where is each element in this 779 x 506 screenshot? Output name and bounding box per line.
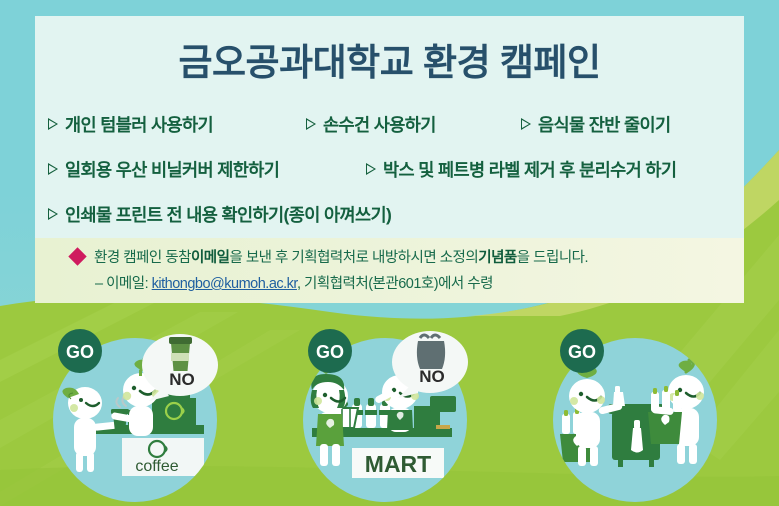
note-line-1: 환경 캠페인 동참 이메일을 보낸 후 기획협력처로 내방하시면 소정의 기념품…: [71, 246, 588, 267]
triangle-bullet-icon: [48, 164, 58, 176]
bullet-row-1: 개인 텀블러 사용하기 손수건 사용하기 음식물 잔반 줄이기: [48, 102, 748, 147]
note-text-e: 을 드립니다.: [517, 246, 588, 267]
no-label-1: NO: [169, 370, 195, 389]
bullet-label: 개인 텀블러 사용하기: [65, 112, 213, 137]
triangle-bullet-icon: [48, 209, 58, 221]
bullet-item: 개인 텀블러 사용하기: [48, 112, 306, 137]
bullet-row-2: 일회용 우산 비닐커버 제한하기 박스 및 페트병 라벨 제거 후 분리수거 하…: [48, 147, 748, 192]
triangle-bullet-icon: [521, 119, 531, 131]
bullet-label: 음식물 잔반 줄이기: [538, 112, 671, 137]
go-label-1: GO: [66, 342, 94, 362]
note-text-a: 환경 캠페인 동참: [94, 246, 191, 267]
go-badge-2: GO: [308, 329, 352, 373]
bullet-list: 개인 텀블러 사용하기 손수건 사용하기 음식물 잔반 줄이기 일회용 우산 비: [48, 102, 748, 237]
email-link[interactable]: kithongbo@kumoh.ac.kr: [152, 276, 297, 292]
bullet-label: 일회용 우산 비닐커버 제한하기: [65, 157, 279, 182]
bullet-row-3: 인쇄물 프린트 전 내용 확인하기(종이 아껴쓰기): [48, 192, 748, 237]
illustration-recycling: GO: [553, 329, 717, 502]
bullet-item: 인쇄물 프린트 전 내용 확인하기(종이 아껴쓰기): [48, 202, 391, 227]
note-text-gift-emphasis: 기념품: [478, 246, 517, 267]
go-badge-3: GO: [560, 329, 604, 373]
go-label-2: GO: [316, 342, 344, 362]
triangle-bullet-icon: [48, 119, 58, 131]
bullet-item: 손수건 사용하기: [306, 112, 521, 137]
campaign-poster: coffee: [0, 0, 779, 506]
note-text-email-emphasis: 이메일: [191, 246, 230, 267]
pickup-location-label: , 기획협력처(본관601호)에서 수령: [297, 276, 493, 292]
triangle-bullet-icon: [306, 119, 316, 131]
bullet-label: 인쇄물 프린트 전 내용 확인하기(종이 아껴쓰기): [65, 202, 391, 227]
illustration-mart: MART: [303, 329, 468, 502]
page-title: 금오공과대학교 환경 캠페인: [35, 32, 744, 86]
triangle-bullet-icon: [366, 164, 376, 176]
illustration-cafe: coffee: [53, 329, 218, 502]
bullet-item: 음식물 잔반 줄이기: [521, 112, 671, 137]
bullet-label: 손수건 사용하기: [323, 112, 436, 137]
bullet-item: 박스 및 페트병 라벨 제거 후 분리수거 하기: [366, 157, 676, 182]
go-badge-1: GO: [58, 329, 102, 373]
bullet-item: 일회용 우산 비닐커버 제한하기: [48, 157, 366, 182]
no-label-2: NO: [419, 367, 445, 386]
bullet-label: 박스 및 페트병 라벨 제거 후 분리수거 하기: [383, 157, 676, 182]
content-panel: 금오공과대학교 환경 캠페인 개인 텀블러 사용하기 손수건 사용하기 음식물 …: [35, 16, 744, 303]
go-label-3: GO: [568, 342, 596, 362]
coffee-sign-label: coffee: [135, 458, 178, 475]
note-box: 환경 캠페인 동참 이메일을 보낸 후 기획협력처로 내방하시면 소정의 기념품…: [35, 238, 744, 303]
email-prefix-label: – 이메일:: [95, 276, 152, 292]
note-text-c: 을 보낸 후 기획협력처로 내방하시면 소정의: [229, 246, 478, 267]
note-line-2: – 이메일: kithongbo@kumoh.ac.kr, 기획협력처(본관60…: [95, 272, 493, 293]
mart-sign-label: MART: [365, 451, 431, 477]
diamond-bullet-icon: [68, 247, 86, 265]
